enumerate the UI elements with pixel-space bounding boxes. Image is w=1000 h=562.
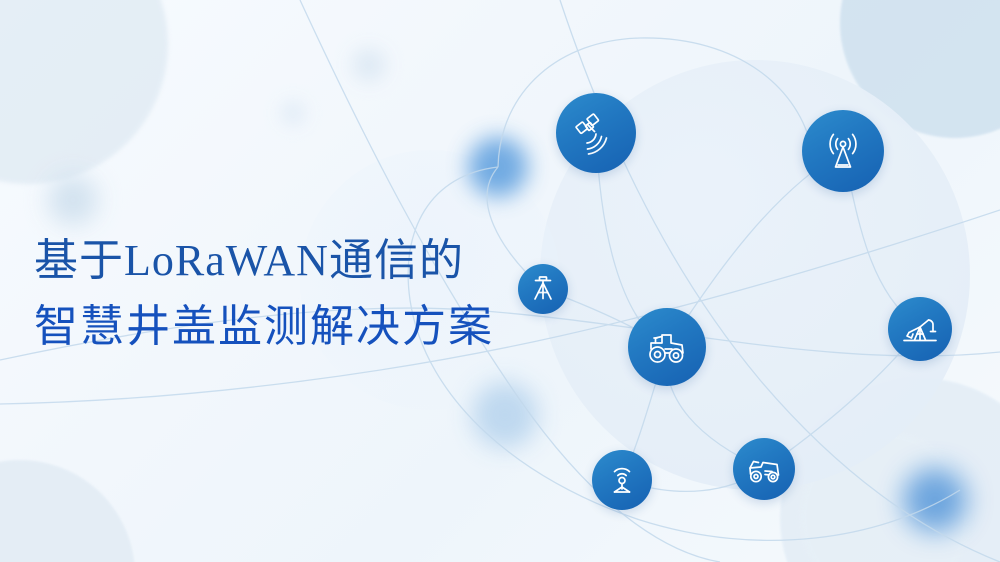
accent-dot-4: [48, 175, 98, 225]
presentation-slide: 基于LoRaWAN通信的 智慧井盖监测解决方案: [0, 0, 1000, 562]
accent-dot-3: [472, 382, 538, 448]
slide-title: 基于LoRaWAN通信的 智慧井盖监测解决方案: [34, 228, 494, 360]
survey-tripod-icon[interactable]: [518, 264, 568, 314]
accent-dot-6: [280, 100, 306, 126]
tractor-icon[interactable]: [628, 308, 706, 386]
title-line-primary: 基于LoRaWAN通信的: [34, 228, 494, 294]
accent-dot-2: [903, 468, 967, 532]
satellite-icon[interactable]: [556, 93, 636, 173]
decorative-blob-top-left: [0, 0, 168, 184]
decorative-blob-bottom-right-small: [800, 432, 970, 562]
wireless-sensor-icon[interactable]: [592, 450, 652, 510]
antenna-tower-icon[interactable]: [802, 110, 884, 192]
decorative-blob-bottom-left: [0, 460, 135, 562]
oil-pumpjack-icon[interactable]: [888, 297, 952, 361]
accent-dot-1: [468, 137, 528, 197]
title-line-secondary: 智慧井盖监测解决方案: [34, 294, 494, 360]
wheel-loader-icon[interactable]: [733, 438, 795, 500]
decorative-blob-bottom-right: [780, 378, 1000, 562]
accent-dot-5: [352, 48, 386, 82]
